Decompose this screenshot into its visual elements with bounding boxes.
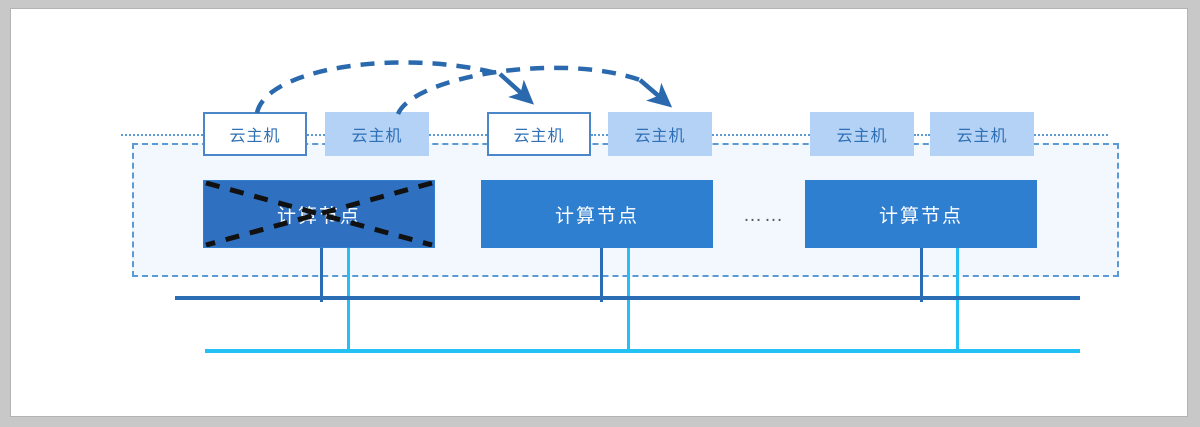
compute-node-label: 计算节点: [277, 201, 361, 228]
mgmt-drop-node-1: [320, 248, 323, 302]
cloud-host-box-3[interactable]: 云主机: [487, 112, 591, 156]
data-drop-node-1: [347, 248, 350, 353]
cloud-host-label: 云主机: [836, 122, 887, 146]
ellipsis-text: ……: [743, 205, 785, 226]
cloud-host-box-5[interactable]: 云主机: [810, 112, 914, 156]
data-drop-node-3: [956, 248, 959, 353]
host-link-segment: [914, 134, 930, 136]
management-network-bus: [175, 296, 1080, 300]
cloud-host-box-1[interactable]: 云主机: [203, 112, 307, 156]
cloud-host-box-4[interactable]: 云主机: [608, 112, 712, 156]
host-link-segment: [429, 134, 487, 136]
host-link-segment: [1034, 134, 1108, 136]
data-network-bus: [205, 349, 1080, 353]
cloud-host-label: 云主机: [513, 122, 564, 146]
mgmt-drop-node-3: [920, 248, 923, 302]
compute-node-box-3[interactable]: 计算节点: [805, 180, 1037, 248]
cloud-host-box-2[interactable]: 云主机: [325, 112, 429, 156]
compute-node-label: 计算节点: [879, 201, 963, 228]
mgmt-drop-node-2: [600, 248, 603, 302]
compute-node-box-2[interactable]: 计算节点: [481, 180, 713, 248]
cloud-host-label: 云主机: [351, 122, 402, 146]
host-link-segment: [712, 134, 810, 136]
diagram-page: 云主机 云主机 云主机 云主机 云主机 云主机 计算节点: [10, 8, 1188, 417]
cloud-host-box-6[interactable]: 云主机: [930, 112, 1034, 156]
data-drop-node-2: [627, 248, 630, 353]
host-link-segment: [121, 134, 203, 136]
cloud-host-label: 云主机: [634, 122, 685, 146]
compute-node-box-1[interactable]: 计算节点: [203, 180, 435, 248]
compute-node-label: 计算节点: [555, 201, 639, 228]
cloud-host-label: 云主机: [956, 122, 1007, 146]
host-link-segment: [307, 134, 325, 136]
cloud-host-label: 云主机: [229, 122, 280, 146]
ellipsis-separator: ……: [743, 205, 785, 227]
host-link-segment: [591, 134, 608, 136]
diagram-canvas: 云主机 云主机 云主机 云主机 云主机 云主机 计算节点: [0, 0, 1200, 427]
